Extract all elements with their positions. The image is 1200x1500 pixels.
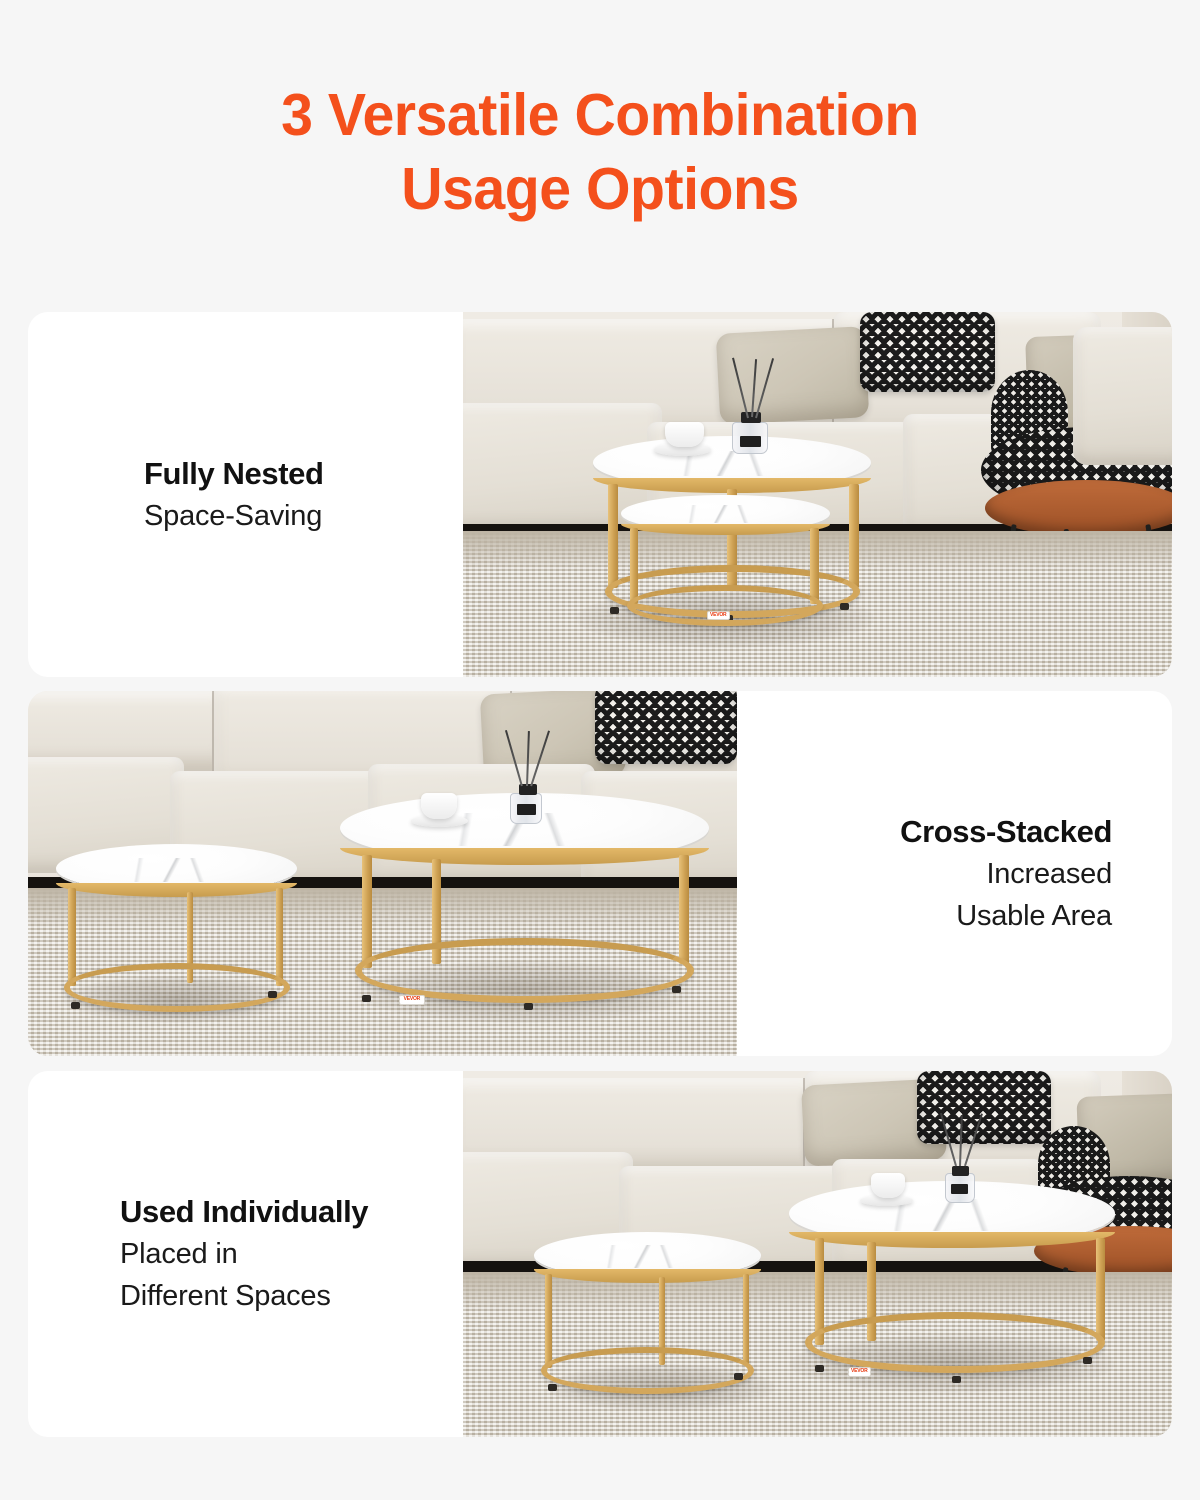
- caption-subtext-line-2: Usable Area: [956, 895, 1112, 937]
- table-leg-small-left: [630, 528, 639, 604]
- table-leg-small-left: [545, 1274, 552, 1368]
- table-foot-small-1: [548, 1384, 557, 1391]
- table-foot-1: [815, 1365, 824, 1372]
- caption-subtext-line-1: Placed in: [120, 1233, 419, 1275]
- panel-used-individually: Used Individually Placed in Different Sp…: [28, 1071, 1172, 1437]
- table-foot-2: [524, 1003, 533, 1010]
- caption-heading: Cross-Stacked: [900, 811, 1112, 853]
- photo-fully-nested: VEVOR: [463, 312, 1172, 677]
- nesting-table-small: [56, 844, 297, 1019]
- photo-used-individually: VEVOR: [463, 1071, 1172, 1437]
- table-base-ring-small: [64, 963, 291, 1012]
- table-foot-small-2: [734, 1373, 743, 1380]
- table-foot-3: [1083, 1357, 1092, 1364]
- nesting-table-small: [619, 495, 832, 641]
- title-line-1: 3 Versatile Combination: [18, 78, 1182, 152]
- vevor-badge-label: VEVOR: [851, 1369, 868, 1374]
- table-leg-large-left: [362, 855, 372, 969]
- reed-diffuser-cap: [952, 1166, 969, 1176]
- vevor-badge-label: VEVOR: [404, 997, 421, 1002]
- tabletop-rim-small: [621, 524, 829, 536]
- table-base-ring-small: [627, 585, 823, 626]
- page-title: 3 Versatile Combination Usage Options: [0, 78, 1200, 226]
- tabletop-rim-large: [340, 848, 709, 866]
- table-leg-small-right: [743, 1274, 750, 1365]
- table-base-ring-large: [355, 938, 694, 1004]
- panel-fully-nested: Fully Nested Space-Saving: [28, 312, 1172, 677]
- table-base-ring-small: [541, 1347, 754, 1394]
- caption-cross-stacked: Cross-Stacked Increased Usable Area: [737, 691, 1172, 1056]
- table-base-ring-large: [805, 1312, 1105, 1373]
- caption-heading: Used Individually: [120, 1191, 419, 1233]
- table-foot-small-2: [268, 991, 277, 998]
- coffee-cup: [665, 422, 704, 448]
- table-large-standalone: VEVOR: [789, 1181, 1115, 1386]
- table-foot-2: [952, 1376, 961, 1383]
- table-leg-large-right: [679, 855, 689, 965]
- table-foot-small-1: [71, 1002, 80, 1009]
- title-line-2: Usage Options: [18, 152, 1182, 226]
- caption-subtext: Space-Saving: [144, 495, 419, 537]
- table-leg-small-right: [810, 528, 819, 604]
- table-leg-large-right: [849, 484, 859, 588]
- caption-fully-nested: Fully Nested Space-Saving: [28, 312, 463, 677]
- coffee-cup: [421, 793, 456, 819]
- tabletop-rim-small: [56, 883, 297, 897]
- table-leg-small-right: [276, 888, 283, 986]
- tabletop-rim-small: [534, 1269, 761, 1282]
- table-small-standalone: [534, 1232, 761, 1400]
- table-leg-large-right: [1096, 1238, 1105, 1340]
- sofa-pillow-houndstooth: [860, 312, 995, 392]
- photo-cross-stacked: VEVOR: [28, 691, 737, 1056]
- tabletop-rim-large: [789, 1232, 1115, 1248]
- table-foot-3: [840, 603, 849, 610]
- infographic-page: 3 Versatile Combination Usage Options Fu…: [0, 0, 1200, 1500]
- sofa-pillow-houndstooth: [595, 691, 737, 764]
- reed-diffuser-label: [740, 436, 761, 447]
- panel-cross-stacked: Cross-Stacked Increased Usable Area: [28, 691, 1172, 1056]
- reed-diffuser-label: [517, 804, 535, 815]
- caption-subtext-line-1: Increased: [986, 853, 1112, 895]
- table-foot-3: [672, 986, 681, 993]
- coffee-cup: [871, 1173, 905, 1197]
- caption-used-individually: Used Individually Placed in Different Sp…: [28, 1071, 463, 1437]
- table-leg-small-left: [68, 888, 75, 986]
- reed-diffuser-label: [951, 1184, 968, 1194]
- nesting-table-large: VEVOR: [340, 793, 709, 1012]
- table-foot-1: [362, 995, 371, 1002]
- sofa-arm-right: [1073, 327, 1172, 466]
- caption-heading: Fully Nested: [144, 453, 419, 495]
- table-leg-large-left: [608, 484, 618, 588]
- caption-subtext-line-2: Different Spaces: [120, 1275, 419, 1317]
- sofa-pillow-beige: [716, 326, 869, 425]
- vevor-badge: VEVOR: [848, 1367, 871, 1376]
- vevor-badge: VEVOR: [399, 995, 425, 1005]
